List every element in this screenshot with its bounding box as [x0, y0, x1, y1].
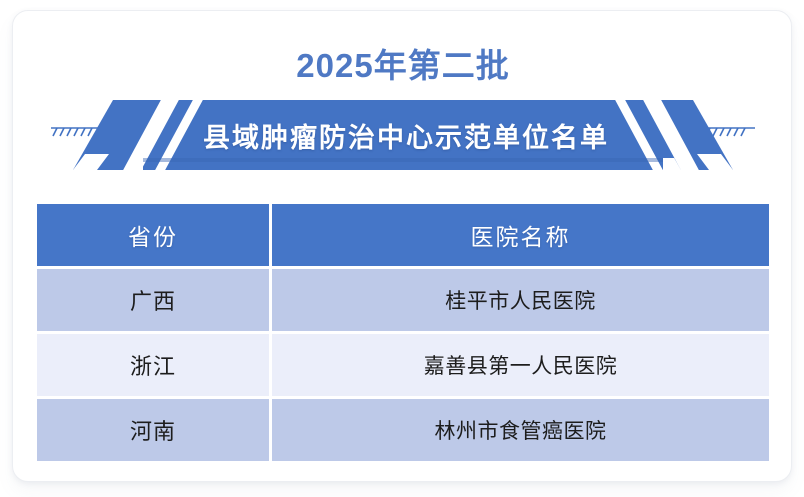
table-header-row: 省份 医院名称 [37, 204, 769, 266]
table-header: 省份 医院名称 [37, 204, 769, 266]
cell-hospital: 桂平市人民医院 [272, 269, 769, 331]
column-header-province: 省份 [37, 204, 269, 266]
table-row: 河南 林州市食管癌医院 [37, 399, 769, 461]
cell-province: 浙江 [37, 334, 269, 396]
table-row: 广西 桂平市人民医院 [37, 269, 769, 331]
column-header-hospital: 医院名称 [272, 204, 769, 266]
table-body: 广西 桂平市人民医院 浙江 嘉善县第一人民医院 河南 林州市食管癌医院 [37, 269, 769, 461]
page-title: 2025年第二批 [13, 49, 792, 82]
cell-province: 广西 [37, 269, 269, 331]
hospital-listing-table: 省份 医院名称 广西 桂平市人民医院 浙江 嘉善县第一人民医院 河南 林州市食管… [34, 201, 772, 464]
ribbon-title-text: 县域肿瘤防治中心示范单位名单 [13, 96, 792, 174]
poster-card: 2025年第二批 [12, 10, 792, 482]
cell-province: 河南 [37, 399, 269, 461]
cell-hospital: 嘉善县第一人民医院 [272, 334, 769, 396]
ribbon-banner: 县域肿瘤防治中心示范单位名单 [13, 96, 792, 174]
table-row: 浙江 嘉善县第一人民医院 [37, 334, 769, 396]
cell-hospital: 林州市食管癌医院 [272, 399, 769, 461]
